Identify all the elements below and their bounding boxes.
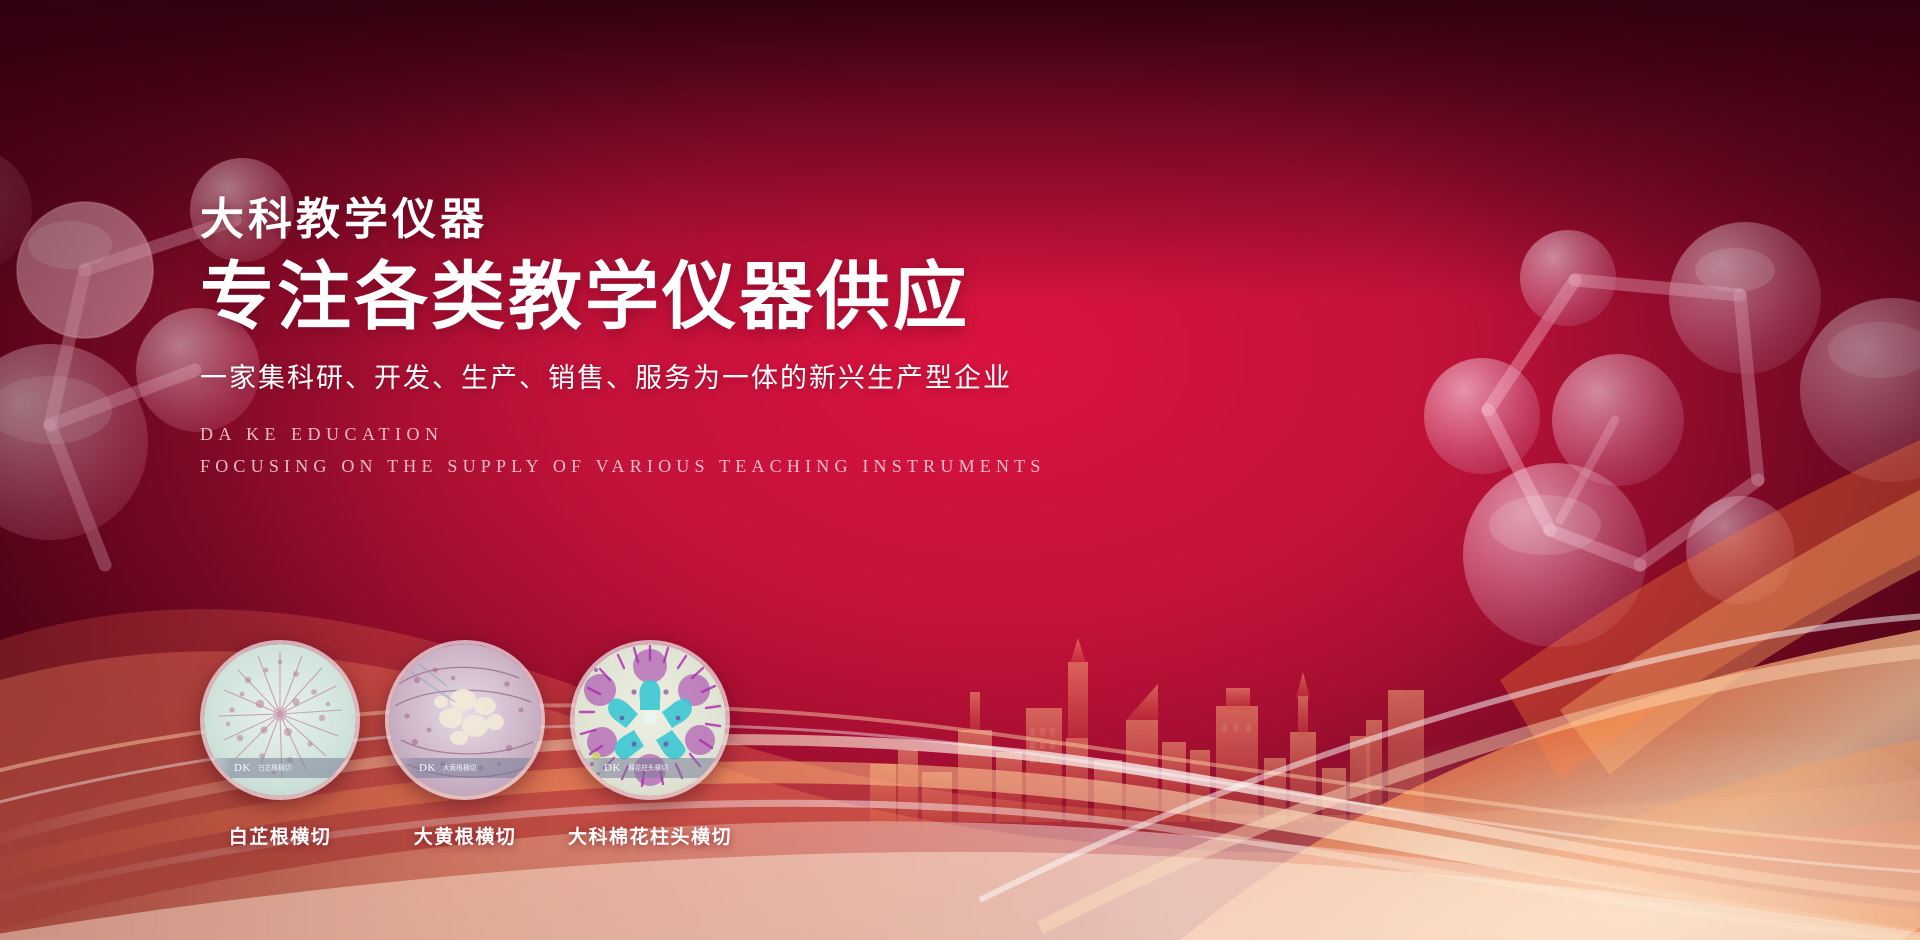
english-tagline: FOCUSING ON THE SUPPLY OF VARIOUS TEACHI… <box>200 451 1200 483</box>
dk-mark: DK <box>604 762 621 774</box>
specimen-slide-group: DK 白芷根横切 白芷根横切 <box>200 640 960 880</box>
specimen-slide[interactable]: DK 白芷根横切 白芷根横切 <box>200 640 360 800</box>
specimen-caption: 大科棉花柱头横切 <box>568 822 732 849</box>
strip-label: 大黄根横切 <box>443 763 476 773</box>
brand-title: 大科教学仪器 <box>200 196 1200 244</box>
specimen-disc[interactable]: DK 大黄根横切 <box>385 640 545 800</box>
specimen-label-strip: DK 棉花柱头横切 <box>574 758 726 778</box>
specimen-disc[interactable]: DK 白芷根横切 <box>200 640 360 800</box>
specimen-disc[interactable]: DK 棉花柱头横切 <box>570 640 730 800</box>
dk-mark: DK <box>419 762 436 774</box>
dk-mark: DK <box>234 762 251 774</box>
specimen-caption: 大黄根横切 <box>414 822 517 849</box>
specimen-slide[interactable]: DK 棉花柱头横切 大科棉花柱头横切 <box>570 640 730 800</box>
sub-headline: 一家集科研、开发、生产、销售、服务为一体的新兴生产型企业 <box>200 356 1200 395</box>
main-headline: 专注各类教学仪器供应 <box>200 258 1200 336</box>
promotional-banner: 大科教学仪器 专注各类教学仪器供应 一家集科研、开发、生产、销售、服务为一体的新… <box>0 0 1920 940</box>
headline-block: 大科教学仪器 专注各类教学仪器供应 一家集科研、开发、生产、销售、服务为一体的新… <box>200 196 1200 482</box>
specimen-label-strip: DK 大黄根横切 <box>389 758 541 778</box>
english-name: DA KE EDUCATION <box>200 419 1200 451</box>
strip-label: 棉花柱头横切 <box>628 763 668 773</box>
specimen-label-strip: DK 白芷根横切 <box>204 758 356 778</box>
specimen-caption: 白芷根横切 <box>229 822 332 849</box>
english-text-block: DA KE EDUCATION FOCUSING ON THE SUPPLY O… <box>200 419 1200 482</box>
strip-label: 白芷根横切 <box>258 763 291 773</box>
specimen-slide[interactable]: DK 大黄根横切 大黄根横切 <box>385 640 545 800</box>
